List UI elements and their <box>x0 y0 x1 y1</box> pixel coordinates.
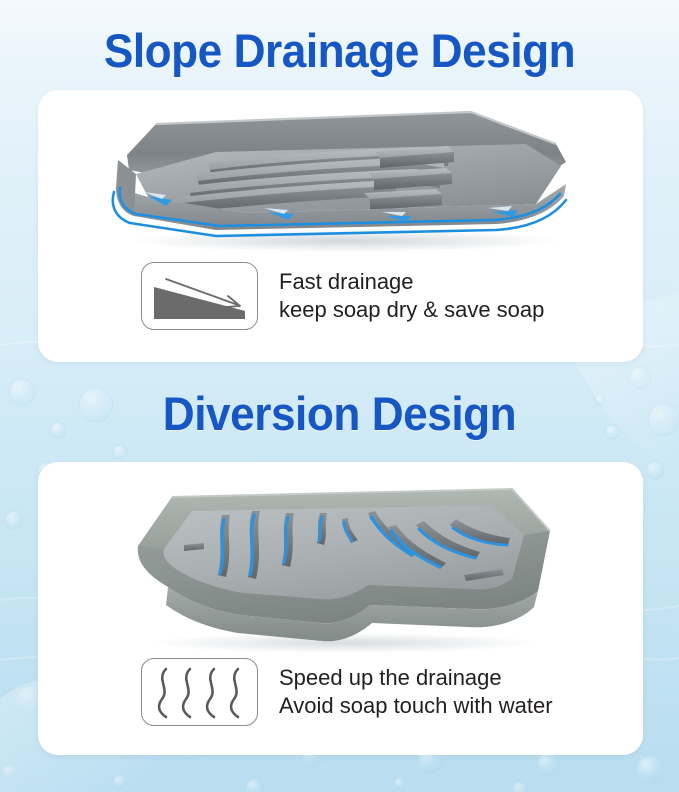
section-title-slope: Slope Drainage Design <box>20 27 658 74</box>
feature-line-2: keep soap dry & save soap <box>279 296 544 324</box>
section-title-diversion: Diversion Design <box>20 390 658 437</box>
feature-row-fast-drainage: Fast drainage keep soap dry & save soap <box>141 262 544 330</box>
feature-line-2: Avoid soap touch with water <box>279 692 553 720</box>
feature-text-fast-drainage: Fast drainage keep soap dry & save soap <box>279 268 544 324</box>
feature-line-1: Fast drainage <box>279 268 544 296</box>
feature-text-speed-up-drainage: Speed up the drainage Avoid soap touch w… <box>279 664 553 720</box>
feature-row-speed-up-drainage: Speed up the drainage Avoid soap touch w… <box>141 658 553 726</box>
soap-dish-top-angled-view-figure <box>120 483 565 653</box>
slope-ramp-arrow-icon <box>141 262 258 330</box>
soap-dish-side-view-figure <box>96 100 586 255</box>
wavy-water-lines-icon <box>141 658 258 726</box>
feature-line-1: Speed up the drainage <box>279 664 553 692</box>
